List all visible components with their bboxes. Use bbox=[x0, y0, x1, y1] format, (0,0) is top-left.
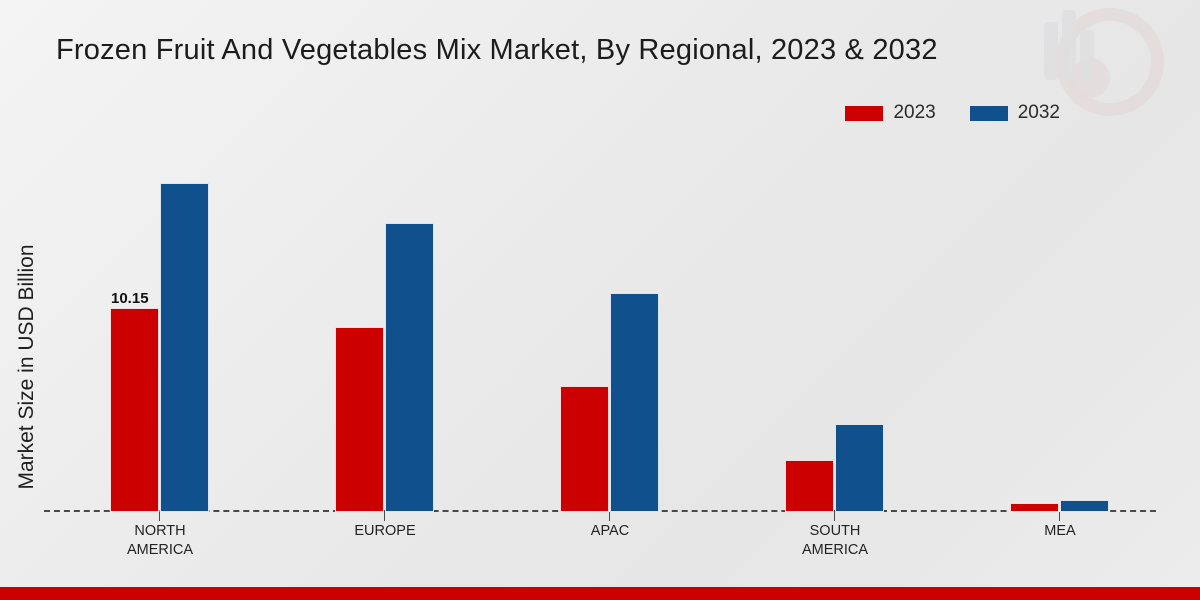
y-axis-title: Market Size in USD Billion bbox=[15, 197, 39, 537]
bar-2023-south-america[interactable] bbox=[785, 460, 834, 512]
watermark-bar-icon bbox=[1062, 10, 1076, 80]
chart-legend: 2023 2032 bbox=[845, 102, 1060, 124]
bar-2032-mea[interactable] bbox=[1060, 500, 1109, 512]
chart-title: Frozen Fruit And Vegetables Mix Market, … bbox=[56, 34, 938, 67]
bar-2032-north-america[interactable] bbox=[160, 183, 209, 512]
category-label-line: APAC bbox=[515, 522, 705, 541]
legend-swatch-2032 bbox=[970, 106, 1008, 121]
bar-value-label: 10.15 bbox=[111, 290, 149, 307]
watermark-bar-icon bbox=[1044, 22, 1058, 80]
x-axis-tick bbox=[609, 512, 610, 521]
bar-2032-south-america[interactable] bbox=[835, 424, 884, 512]
bar-group: MEA bbox=[1010, 150, 1108, 512]
x-axis-category-label: SOUTHAMERICA bbox=[740, 522, 930, 560]
x-axis-category-label: APAC bbox=[515, 522, 705, 541]
legend-label-2032: 2032 bbox=[1018, 102, 1060, 124]
x-axis-tick bbox=[384, 512, 385, 521]
x-axis-category-label: EUROPE bbox=[290, 522, 480, 541]
bar-group: EUROPE bbox=[335, 150, 433, 512]
category-label-line: AMERICA bbox=[740, 541, 930, 560]
x-axis-category-label: MEA bbox=[965, 522, 1155, 541]
legend-item-2023[interactable]: 2023 bbox=[845, 102, 935, 124]
x-axis-tick bbox=[1059, 512, 1060, 521]
bar-2023-europe[interactable] bbox=[335, 327, 384, 512]
x-axis-category-label: NORTHAMERICA bbox=[65, 522, 255, 560]
chart-canvas: Frozen Fruit And Vegetables Mix Market, … bbox=[0, 0, 1200, 600]
bar-group: APAC bbox=[560, 150, 658, 512]
bar-2023-north-america[interactable]: 10.15 bbox=[110, 308, 159, 512]
bar-group: 10.15NORTHAMERICA bbox=[110, 150, 208, 512]
footer-accent-band bbox=[0, 587, 1200, 600]
category-label-line: NORTH bbox=[65, 522, 255, 541]
bar-2032-apac[interactable] bbox=[610, 293, 659, 512]
x-axis-tick bbox=[159, 512, 160, 521]
category-label-line: MEA bbox=[965, 522, 1155, 541]
legend-item-2032[interactable]: 2032 bbox=[970, 102, 1060, 124]
legend-swatch-2023 bbox=[845, 106, 883, 121]
x-axis-tick bbox=[834, 512, 835, 521]
legend-label-2023: 2023 bbox=[893, 102, 935, 124]
category-label-line: EUROPE bbox=[290, 522, 480, 541]
bar-2023-apac[interactable] bbox=[560, 386, 609, 512]
watermark-drop-icon bbox=[1066, 54, 1113, 101]
watermark-bar-icon bbox=[1080, 30, 1094, 80]
bar-2032-europe[interactable] bbox=[385, 223, 434, 512]
bar-2023-mea[interactable] bbox=[1010, 503, 1059, 512]
category-label-line: AMERICA bbox=[65, 541, 255, 560]
bar-group: SOUTHAMERICA bbox=[785, 150, 883, 512]
watermark-ring-icon bbox=[1056, 8, 1164, 116]
plot-area: 10.15NORTHAMERICAEUROPEAPACSOUTHAMERICAM… bbox=[44, 150, 1156, 512]
category-label-line: SOUTH bbox=[740, 522, 930, 541]
